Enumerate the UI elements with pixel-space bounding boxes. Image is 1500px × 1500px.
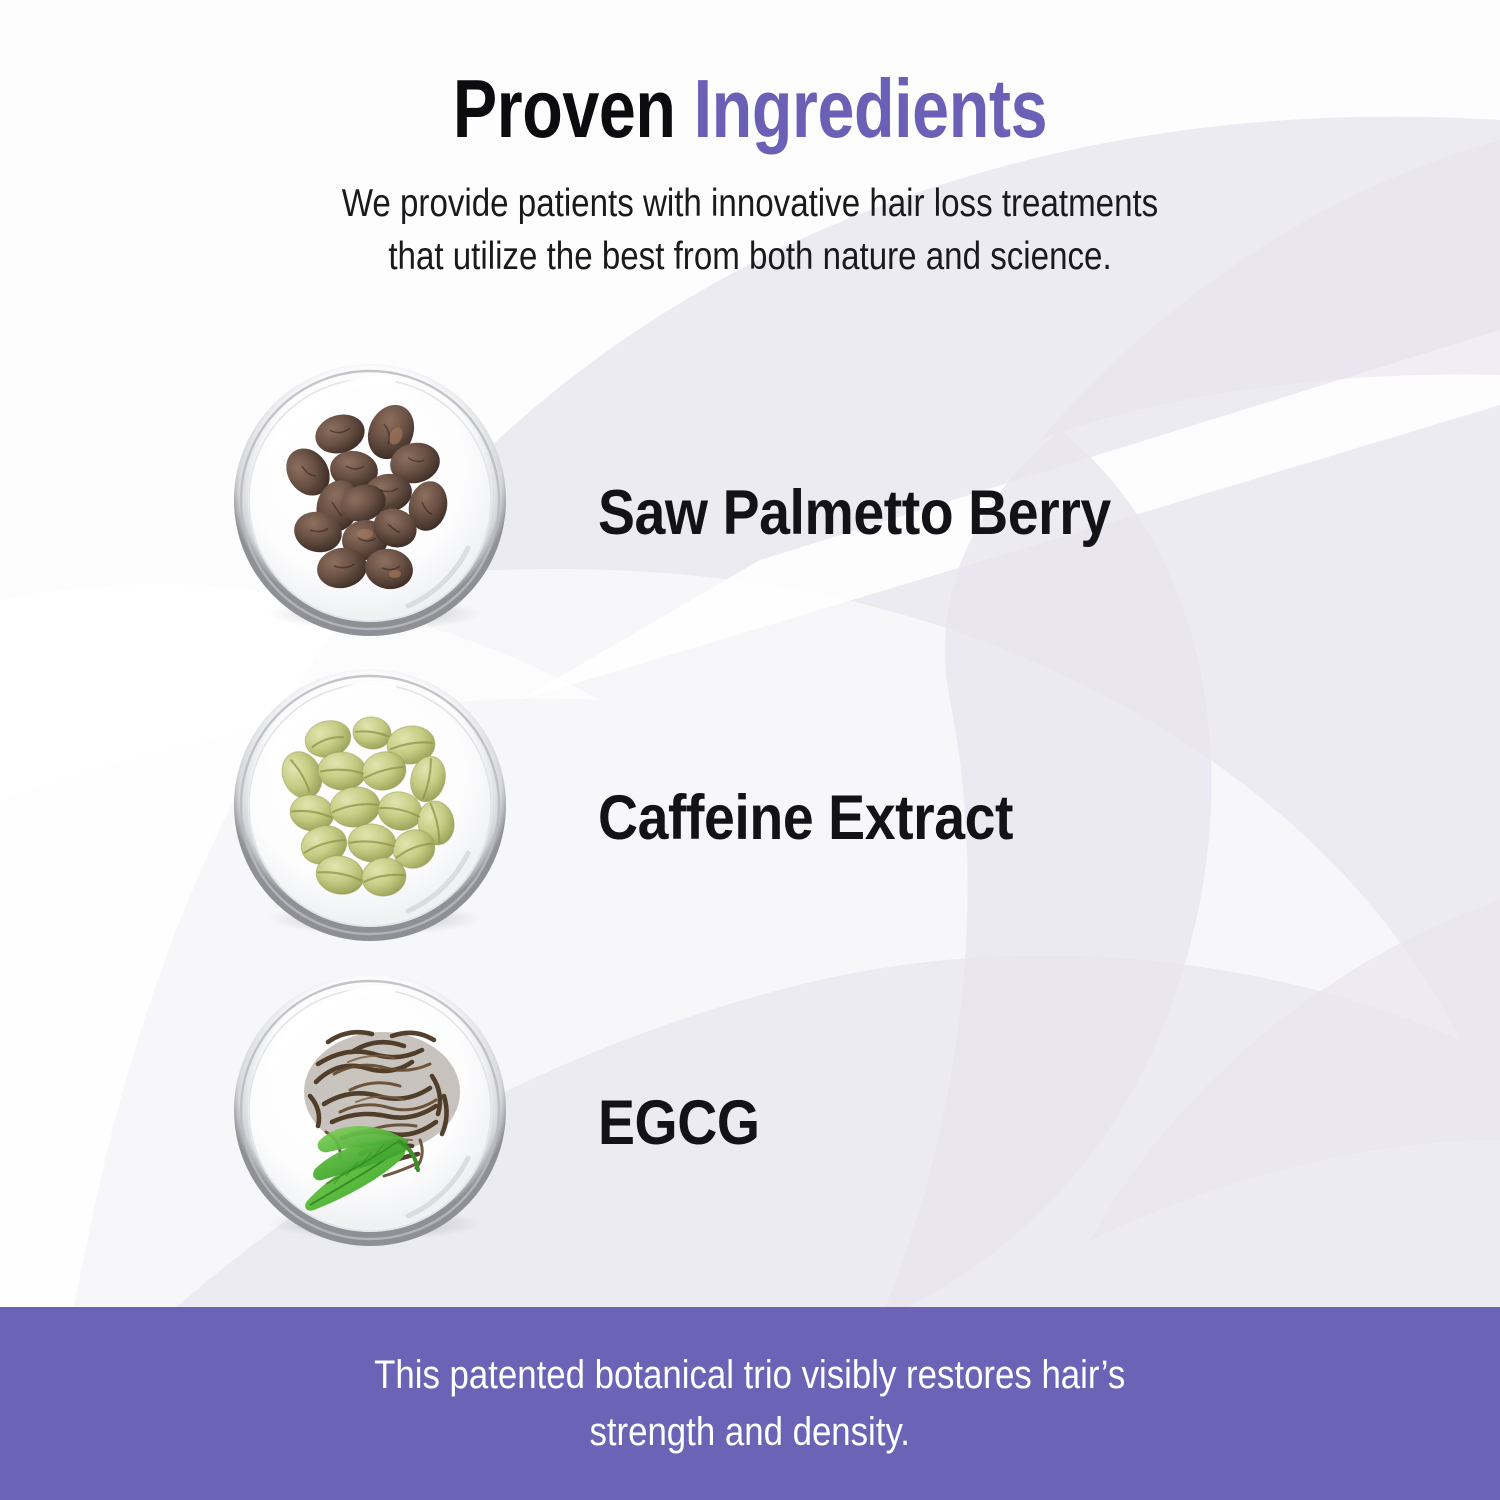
- page-title: Proven Ingredients: [150, 66, 1350, 152]
- page-title-part1: Proven: [453, 62, 694, 155]
- petri-dish-tea-leaves-icon: [232, 972, 508, 1248]
- ingredient-label: Saw Palmetto Berry: [598, 477, 1111, 549]
- bottom-banner: This patented botanical trio visibly res…: [0, 1307, 1500, 1500]
- banner-line-1: This patented botanical trio visibly res…: [374, 1347, 1125, 1404]
- ingredient-list: Saw Palmetto Berry: [0, 360, 1500, 1275]
- page-title-part2: Ingredients: [694, 62, 1047, 155]
- ingredient-label: EGCG: [598, 1087, 760, 1159]
- ingredient-row: EGCG: [0, 970, 1500, 1275]
- page-subtitle-line-1: We provide patients with innovative hair…: [105, 178, 1395, 230]
- banner-line-2: strength and density.: [374, 1404, 1125, 1461]
- proven-ingredients-panel: Proven Ingredients We provide patients w…: [0, 0, 1500, 1500]
- header: Proven Ingredients We provide patients w…: [0, 66, 1500, 283]
- banner-text: This patented botanical trio visibly res…: [374, 1347, 1125, 1461]
- ingredient-row: Caffeine Extract: [0, 665, 1500, 970]
- petri-dish-saw-palmetto-berry-icon: [232, 362, 508, 638]
- page-subtitle: We provide patients with innovative hair…: [105, 178, 1395, 283]
- petri-dish-green-coffee-beans-icon: [232, 667, 508, 943]
- ingredient-label: Caffeine Extract: [598, 782, 1013, 854]
- ingredient-row: Saw Palmetto Berry: [0, 360, 1500, 665]
- page-subtitle-line-2: that utilize the best from both nature a…: [105, 231, 1395, 283]
